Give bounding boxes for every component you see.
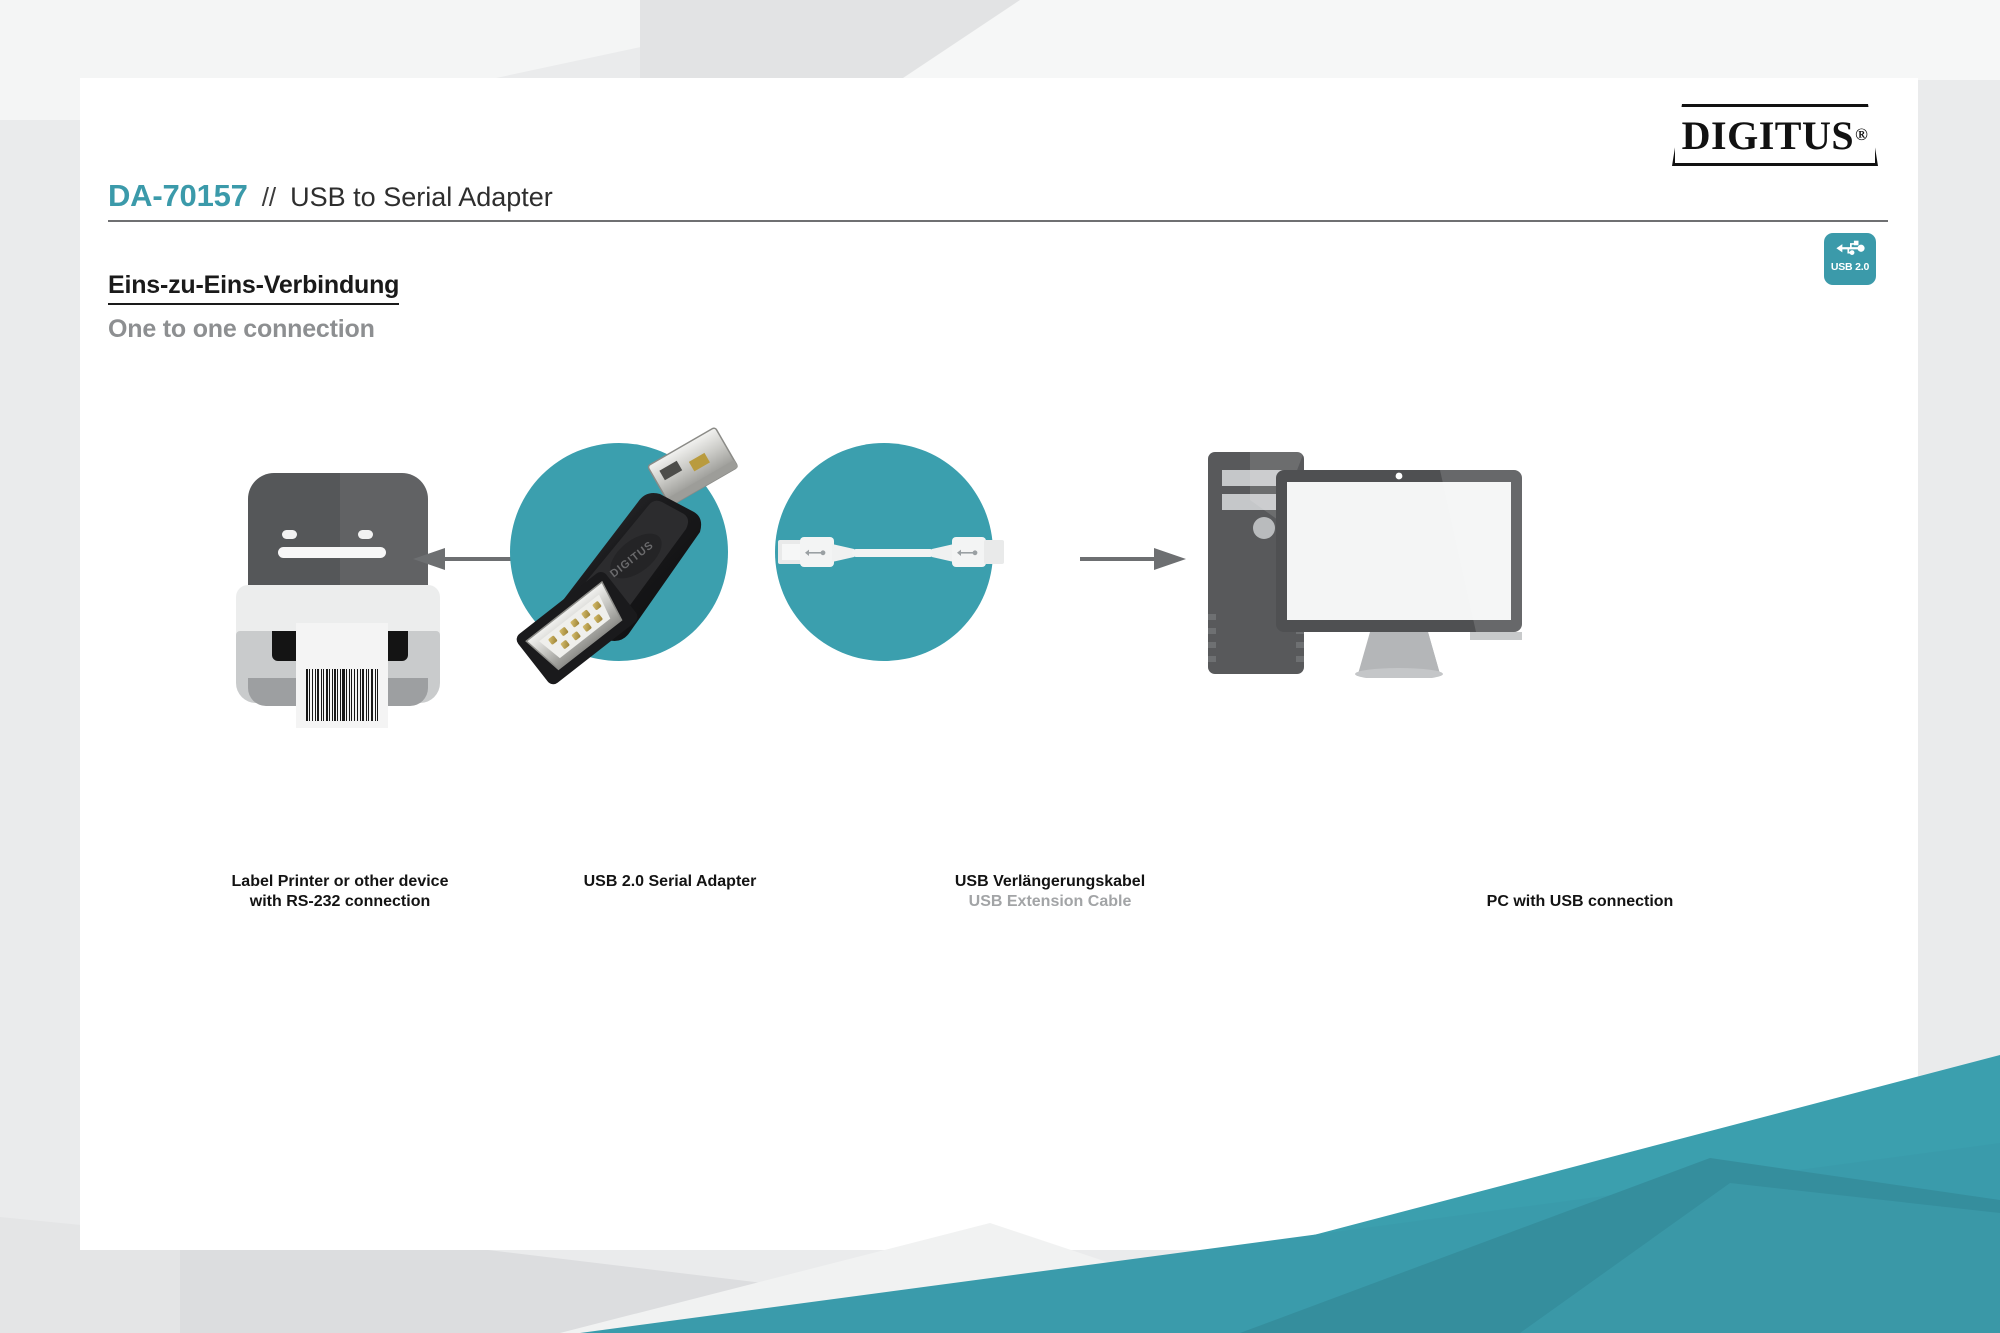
slide-canvas: DIGITUS® DA-70157 // USB to Serial Adapt…: [0, 0, 2000, 1333]
caption-adapter-line1: USB 2.0 Serial Adapter: [584, 873, 757, 890]
caption-cable-en: USB Extension Cable: [880, 892, 1220, 912]
diagram-captions: Label Printer or other device with RS-23…: [80, 868, 1918, 958]
page-title: DA-70157 // USB to Serial Adapter: [108, 178, 553, 214]
printer-button-right: [358, 530, 373, 539]
product-sheet: DIGITUS® DA-70157 // USB to Serial Adapt…: [80, 78, 1918, 1250]
product-name: USB to Serial Adapter: [290, 182, 553, 213]
arrow-to-pc: [1080, 546, 1186, 572]
usb-trident-icon: [1833, 236, 1867, 260]
title-divider: [108, 220, 1888, 222]
title-separator: //: [262, 182, 276, 213]
barcode: [306, 669, 378, 721]
caption-printer: Label Printer or other device with RS-23…: [140, 872, 540, 913]
connection-diagram: DIGITUS: [80, 408, 1918, 868]
logo-wordmark-text: DIGITUS: [1682, 112, 1854, 159]
printer-button-left: [282, 530, 297, 539]
caption-pc: PC with USB connection: [1380, 892, 1780, 912]
printer-top-shell: [248, 473, 428, 593]
desktop-pc-icon: [1200, 448, 1530, 678]
caption-printer-line2: with RS-232 connection: [250, 893, 430, 910]
caption-adapter: USB 2.0 Serial Adapter: [510, 872, 830, 892]
background-diagonal-top-3: [900, 0, 2000, 80]
printer-top-highlight: [340, 473, 446, 593]
section-heading-de: Eins-zu-Eins-Verbindung: [108, 271, 399, 305]
usb-extension-cable-icon: [770, 518, 1010, 588]
product-code: DA-70157: [108, 178, 248, 214]
caption-printer-line1: Label Printer or other device: [232, 873, 449, 890]
logo-wordmark: DIGITUS®: [1672, 104, 1878, 166]
section-heading-en: One to one connection: [108, 315, 375, 344]
printer-slot: [278, 547, 386, 558]
usb-serial-adapter-icon: DIGITUS: [488, 416, 758, 696]
label-printer-icon: [230, 473, 450, 728]
usb-2-badge: USB 2.0: [1824, 233, 1876, 285]
caption-pc-line1: PC with USB connection: [1487, 893, 1674, 910]
caption-cable-de: USB Verlängerungskabel: [955, 873, 1145, 890]
registered-mark: ®: [1855, 125, 1868, 145]
usb-badge-label: USB 2.0: [1831, 261, 1869, 273]
digitus-logo: DIGITUS®: [1672, 104, 1878, 166]
caption-cable: USB Verlängerungskabel USB Extension Cab…: [880, 872, 1220, 913]
